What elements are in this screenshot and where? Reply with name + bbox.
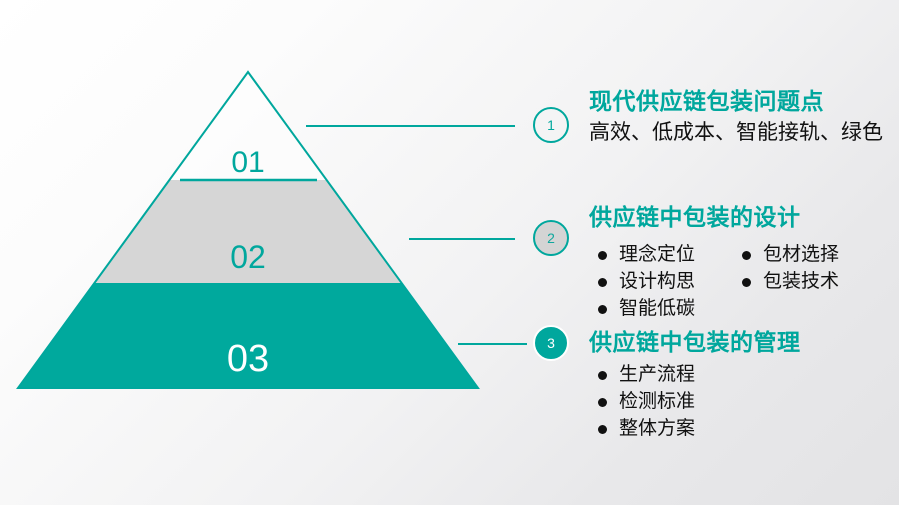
bullet-dot-icon xyxy=(598,425,607,434)
list-item[interactable]: 检测标准 xyxy=(598,389,695,416)
list-item-label: 整体方案 xyxy=(619,416,695,443)
bullet-column-left-2: 理念定位 设计构思 智能低碳 xyxy=(598,242,742,323)
section-marker-1[interactable]: 1 xyxy=(533,107,569,143)
list-item-label: 包装技术 xyxy=(763,269,839,296)
list-item[interactable]: 智能低碳 xyxy=(598,296,742,323)
bullet-list-2: 理念定位 设计构思 智能低碳 包材选择 包装技术 xyxy=(598,242,839,323)
list-item[interactable]: 设计构思 xyxy=(598,269,742,296)
pyramid-label-03: 03 xyxy=(227,338,269,380)
list-item[interactable]: 理念定位 xyxy=(598,242,742,269)
bullet-dot-icon xyxy=(742,278,751,287)
bullet-column-left-3: 生产流程 检测标准 整体方案 xyxy=(598,362,695,443)
connector-line-2 xyxy=(409,238,515,240)
pyramid-label-01: 01 xyxy=(231,146,264,179)
connector-line-1 xyxy=(306,125,515,127)
list-item-label: 理念定位 xyxy=(619,242,695,269)
section-title-1: 现代供应链包装问题点 xyxy=(589,82,824,116)
pyramid-label-02: 02 xyxy=(230,239,266,275)
bullet-dot-icon xyxy=(598,251,607,260)
section-title-3: 供应链中包装的管理 xyxy=(589,323,801,357)
list-item[interactable]: 包材选择 xyxy=(742,242,839,269)
section-marker-3[interactable]: 3 xyxy=(533,325,569,361)
bullet-dot-icon xyxy=(598,398,607,407)
bullet-dot-icon xyxy=(742,251,751,260)
list-item-label: 包材选择 xyxy=(763,242,839,269)
connector-line-3 xyxy=(458,343,527,345)
bullet-list-3: 生产流程 检测标准 整体方案 xyxy=(598,362,695,443)
list-item-label: 生产流程 xyxy=(619,362,695,389)
section-title-2: 供应链中包装的设计 xyxy=(589,198,801,232)
pyramid-diagram: 01 02 03 xyxy=(0,0,520,420)
pyramid-svg: 01 02 03 xyxy=(0,0,520,420)
bullet-column-right-2: 包材选择 包装技术 xyxy=(742,242,839,323)
list-item-label: 设计构思 xyxy=(619,269,695,296)
section-subtitle-1: 高效、低成本、智能接轨、绿色 xyxy=(589,116,883,146)
list-item[interactable]: 生产流程 xyxy=(598,362,695,389)
section-marker-2[interactable]: 2 xyxy=(533,220,569,256)
bullet-dot-icon xyxy=(598,278,607,287)
bullet-dot-icon xyxy=(598,305,607,314)
list-item[interactable]: 整体方案 xyxy=(598,416,695,443)
bullet-dot-icon xyxy=(598,371,607,380)
list-item[interactable]: 包装技术 xyxy=(742,269,839,296)
list-item-label: 智能低碳 xyxy=(619,296,695,323)
slide-canvas: 01 02 03 1 现代供应链包装问题点 高效、低成本、智能接轨、绿色 2 供… xyxy=(0,0,899,505)
list-item-label: 检测标准 xyxy=(619,389,695,416)
